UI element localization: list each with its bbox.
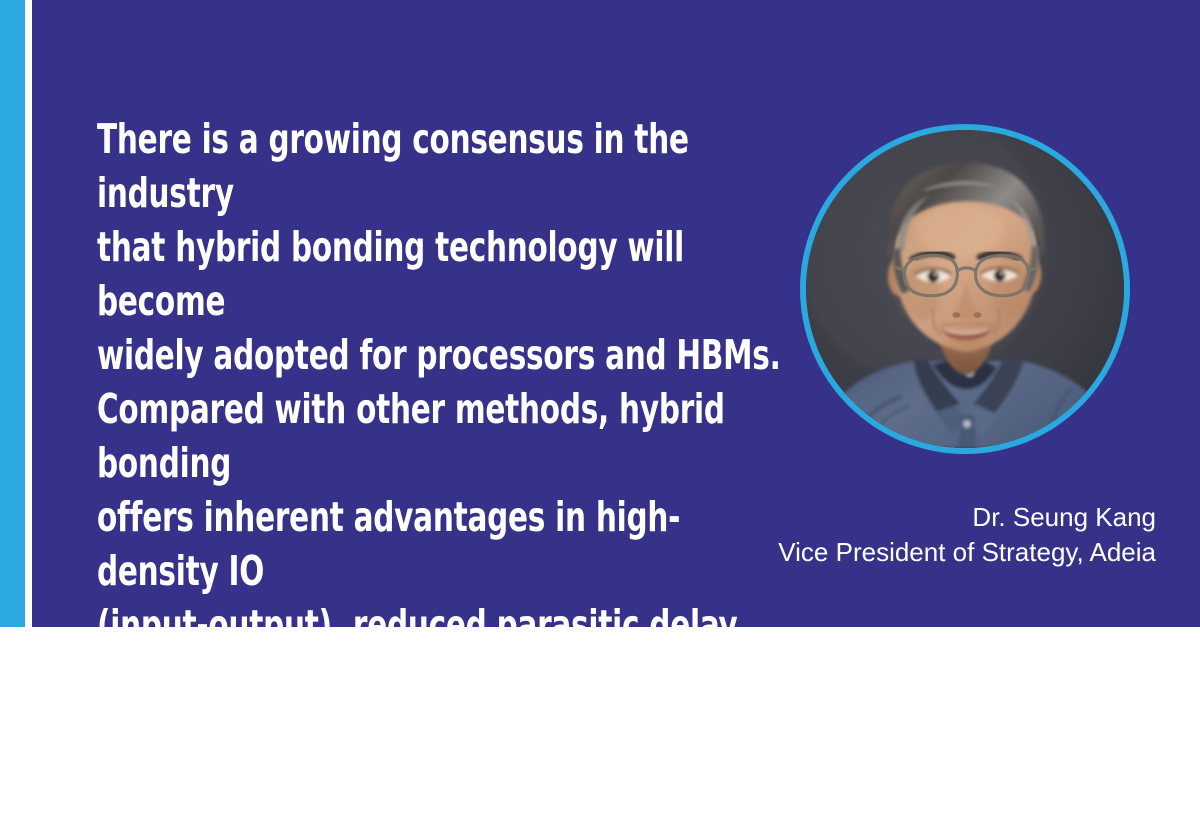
quote-card: There is a growing consensus in the indu… bbox=[0, 0, 1200, 627]
attribution: Dr. Seung Kang Vice President of Strateg… bbox=[778, 500, 1156, 570]
portrait-clip bbox=[806, 130, 1124, 448]
attribution-title: Vice President of Strategy, Adeia bbox=[778, 535, 1156, 570]
attribution-name: Dr. Seung Kang bbox=[778, 500, 1156, 535]
left-accent-stripe bbox=[0, 0, 25, 627]
quote-text: There is a growing consensus in the indu… bbox=[97, 112, 801, 814]
portrait-frame bbox=[800, 124, 1130, 454]
portrait-photo-seung-kang bbox=[806, 130, 1124, 448]
